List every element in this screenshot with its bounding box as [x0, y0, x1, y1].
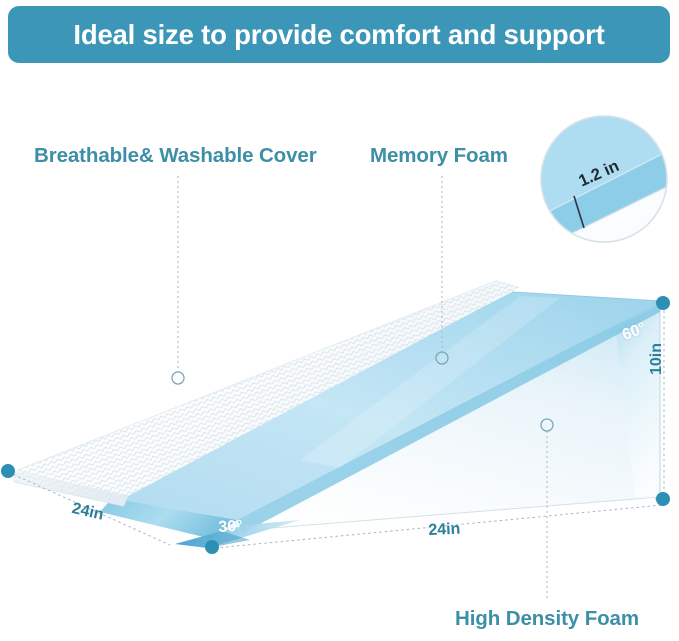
marker-dot-left	[1, 464, 15, 478]
marker-dot-bottom-right	[656, 492, 670, 506]
marker-dot-top-right	[656, 296, 670, 310]
inset-thickness-value: 1.2 in	[576, 157, 622, 192]
callout-dot-cover	[172, 372, 184, 384]
callout-label-washable-cover: Breathable& Washable Cover	[34, 144, 317, 168]
wedge-pillow-illustration	[0, 0, 679, 641]
callout-label-high-density-foam: High Density Foam	[455, 607, 639, 631]
dimension-height-right: 10in	[648, 343, 666, 375]
angle-label-30: 30°	[218, 518, 243, 537]
dimension-length-bottom: 24in	[428, 521, 461, 540]
infographic-canvas: Ideal size to provide comfort and suppor…	[0, 0, 679, 641]
marker-dot-bottom-left	[205, 540, 219, 554]
magnifier-inset-container: 1.2 in	[540, 114, 668, 244]
callout-label-memory-foam: Memory Foam	[370, 144, 508, 168]
